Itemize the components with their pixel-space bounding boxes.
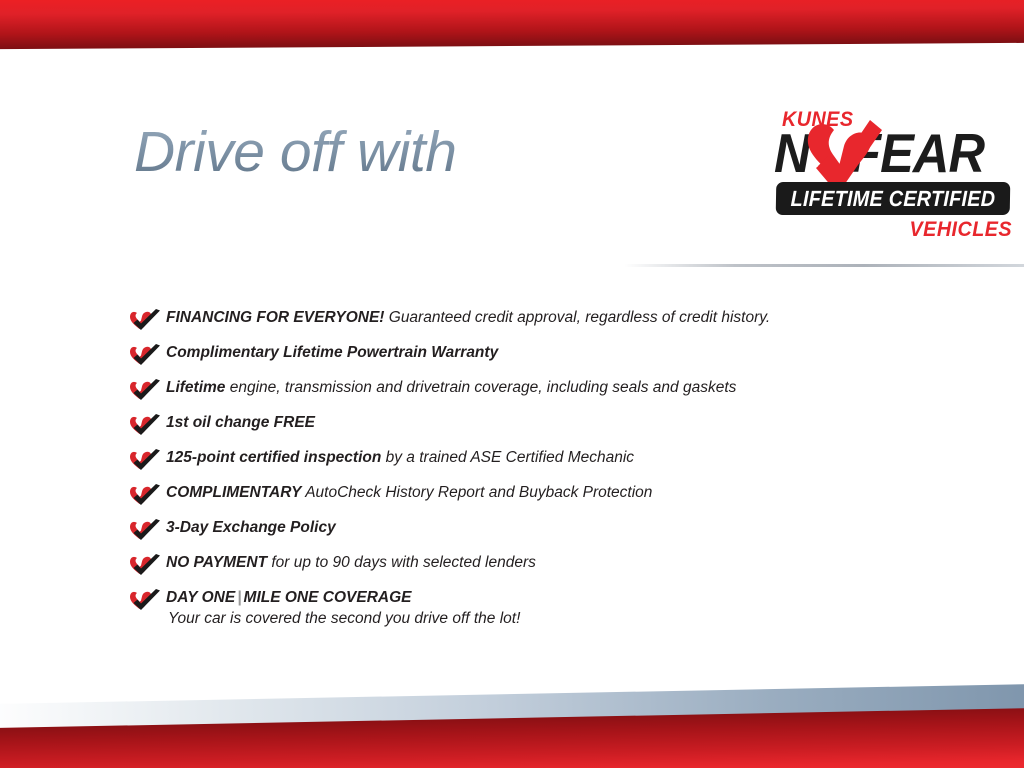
top-banner	[0, 0, 1024, 84]
heart-check-icon	[130, 344, 160, 365]
list-item-lead: Complimentary Lifetime Powertrain Warran…	[166, 344, 498, 361]
list-item-text: DAY ONE|MILE ONE COVERAGE	[166, 588, 950, 607]
list-item-text: Lifetime engine, transmission and drivet…	[166, 378, 950, 397]
list-item-text: Complimentary Lifetime Powertrain Warran…	[166, 343, 950, 362]
list-item-text: 125-point certified inspection by a trai…	[166, 448, 950, 467]
heart-check-icon	[130, 519, 160, 540]
headline-line-2: Peace of Mind	[196, 187, 754, 256]
list-item-text: NO PAYMENT for up to 90 days with select…	[166, 553, 950, 572]
list-item-subtext: Your car is covered the second you drive…	[168, 609, 950, 629]
list-item: Lifetime engine, transmission and drivet…	[130, 378, 950, 400]
logo-certified-bar: LIFETIME CERTIFIED	[776, 182, 1011, 215]
header-divider	[624, 264, 1024, 267]
benefits-list: FINANCING FOR EVERYONE! Guaranteed credi…	[130, 308, 950, 643]
heart-check-icon	[130, 309, 160, 330]
list-item-rest: engine, transmission and drivetrain cove…	[225, 379, 736, 396]
list-item-lead: 3-Day Exchange Policy	[166, 519, 336, 536]
list-item: COMPLIMENTARY AutoCheck History Report a…	[130, 483, 950, 505]
top-slate-band	[0, 39, 1024, 84]
list-item-text: COMPLIMENTARY AutoCheck History Report a…	[166, 483, 950, 502]
list-item-lead: Lifetime	[166, 379, 225, 396]
list-item-rest: AutoCheck History Report and Buyback Pro…	[301, 484, 652, 501]
kunes-no-fear-logo: KUNES NFEAR LIFETIME CERTIFIED VEHICLES	[770, 108, 1016, 248]
heart-check-icon	[130, 484, 160, 505]
heart-check-icon	[130, 589, 160, 610]
list-item: FINANCING FOR EVERYONE! Guaranteed credi…	[130, 308, 950, 330]
list-item: NO PAYMENT for up to 90 days with select…	[130, 553, 950, 575]
list-item: Complimentary Lifetime Powertrain Warran…	[130, 343, 950, 365]
list-item: 3-Day Exchange Policy	[130, 518, 950, 540]
list-item-rest: Guaranteed credit approval, regardless o…	[384, 309, 770, 326]
headline: Drive off with Peace of Mind	[134, 124, 754, 256]
list-item: DAY ONE|MILE ONE COVERAGE Your car is co…	[130, 588, 950, 630]
heart-check-icon	[130, 379, 160, 400]
list-item-separator: |	[235, 589, 243, 606]
list-item-rest: for up to 90 days with selected lenders	[267, 554, 536, 571]
list-item-lead: DAY ONE	[166, 589, 235, 606]
heart-check-icon	[130, 449, 160, 470]
list-item-lead: COMPLIMENTARY	[166, 484, 301, 501]
list-item-lead: 1st oil change FREE	[166, 414, 315, 431]
list-item-lead: 125-point certified inspection	[166, 449, 381, 466]
heart-check-icon	[130, 554, 160, 575]
heart-check-icon	[130, 414, 160, 435]
list-item: 1st oil change FREE	[130, 413, 950, 435]
logo-certified-bar-text: LIFETIME CERTIFIED	[787, 182, 998, 215]
logo-vehicles-text: VEHICLES	[910, 218, 1012, 242]
list-item-lead: NO PAYMENT	[166, 554, 267, 571]
list-item-lead: FINANCING FOR EVERYONE!	[166, 309, 384, 326]
bottom-banner	[0, 682, 1024, 768]
list-item-text: 1st oil change FREE	[166, 413, 950, 432]
list-item-lead-2: MILE ONE COVERAGE	[244, 589, 412, 606]
list-item: 125-point certified inspection by a trai…	[130, 448, 950, 470]
list-item-text: FINANCING FOR EVERYONE! Guaranteed credi…	[166, 308, 950, 327]
list-item-rest: by a trained ASE Certified Mechanic	[381, 449, 634, 466]
list-item-text: 3-Day Exchange Policy	[166, 518, 950, 537]
headline-line-1: Drive off with	[134, 124, 754, 181]
